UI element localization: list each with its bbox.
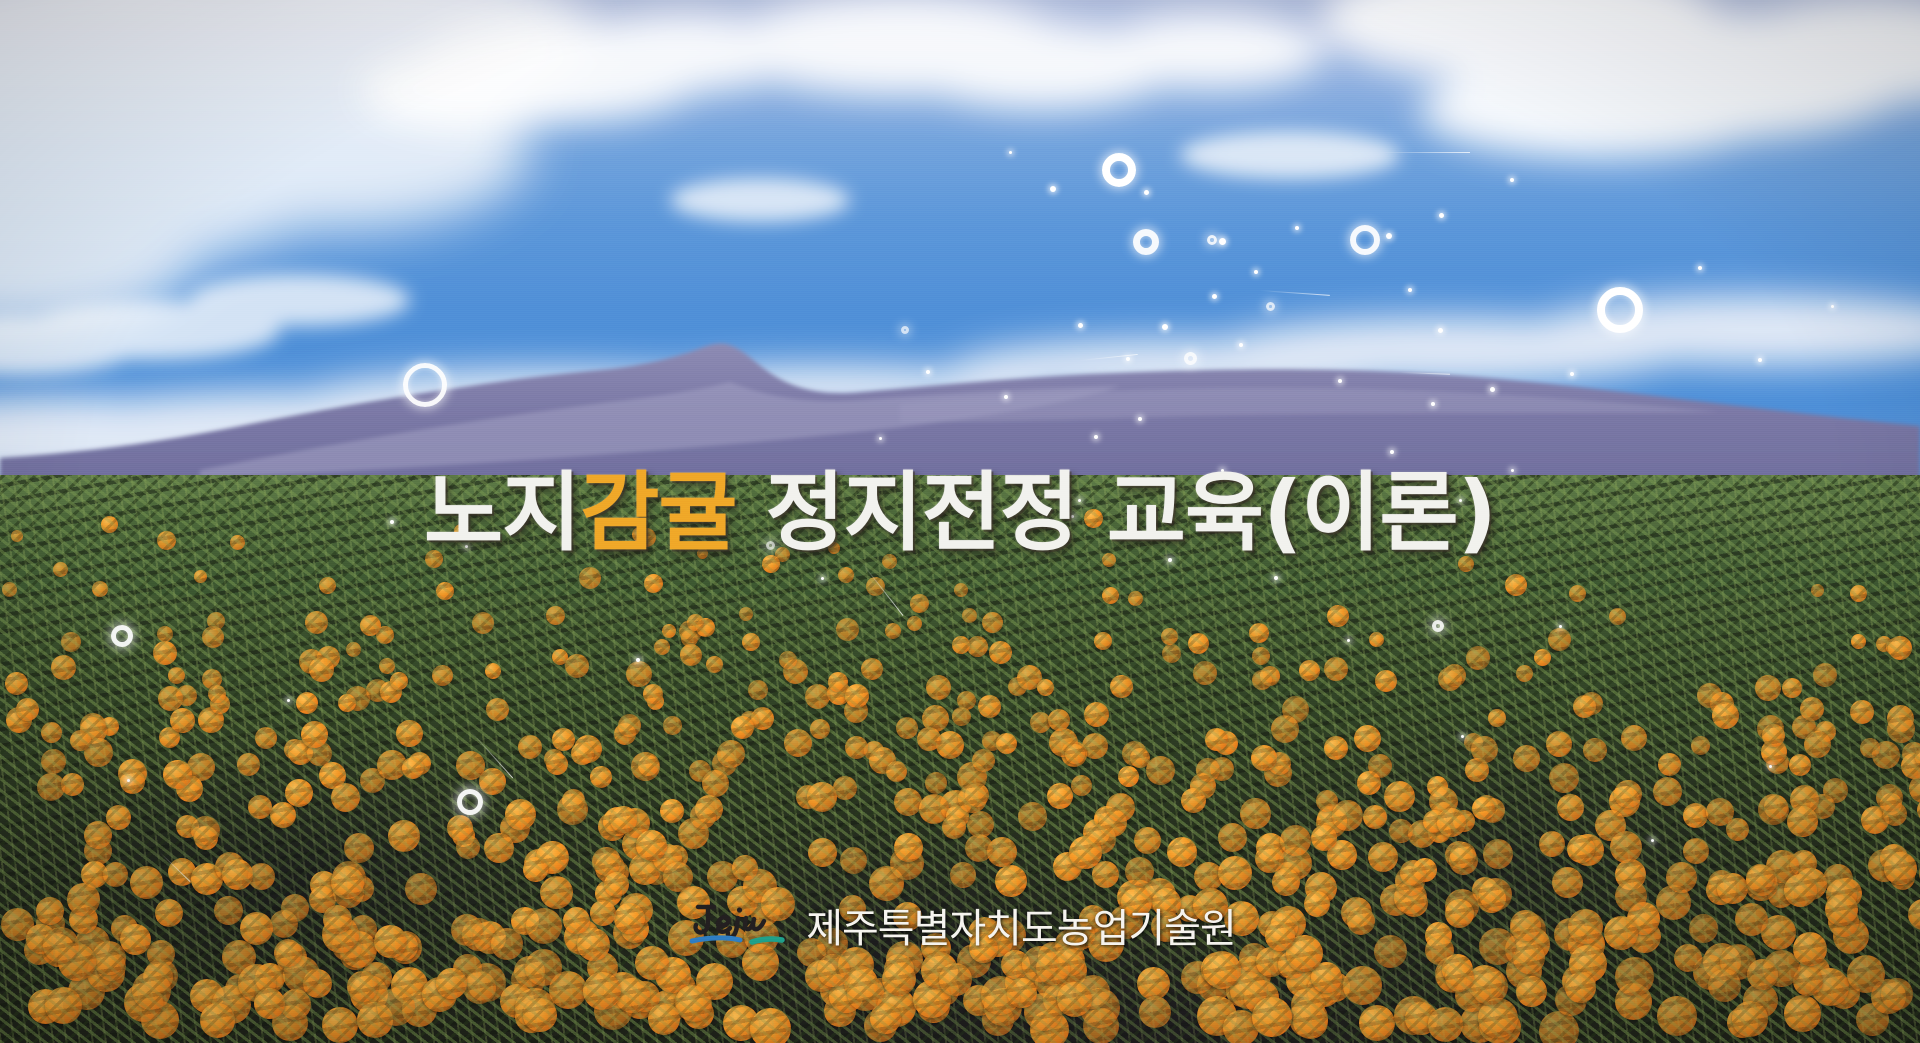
bokeh-dot xyxy=(1431,402,1435,406)
bokeh-ring xyxy=(403,363,447,407)
tangerine-grove xyxy=(0,475,1920,1043)
bokeh-dot xyxy=(390,520,394,524)
bokeh-dot xyxy=(1009,151,1012,154)
bokeh-dot xyxy=(1831,305,1834,308)
bokeh-ring xyxy=(1597,287,1643,333)
bokeh-dot xyxy=(1559,625,1562,628)
bokeh-ring xyxy=(457,789,483,815)
bokeh-dot xyxy=(1126,357,1130,361)
bokeh-dot xyxy=(1168,558,1172,562)
video-title-card: 노지감귤 정지전정 교육(이론) xyxy=(0,0,1920,1043)
bokeh-dot xyxy=(926,370,930,374)
bokeh-ring xyxy=(1184,352,1197,365)
bokeh-dot xyxy=(127,779,130,782)
bokeh-dot xyxy=(1390,450,1394,454)
bokeh-dot xyxy=(1769,765,1772,768)
bokeh-dot xyxy=(1078,323,1083,328)
light-streak xyxy=(1380,152,1470,153)
bokeh-dot xyxy=(1144,190,1149,195)
bokeh-dot xyxy=(1438,328,1443,333)
bokeh-ring xyxy=(1350,225,1380,255)
bokeh-dot xyxy=(1490,387,1495,392)
bokeh-dot xyxy=(1338,379,1342,383)
bokeh-dot xyxy=(1651,839,1654,842)
bokeh-dot xyxy=(1328,480,1332,484)
bokeh-dot xyxy=(1254,270,1258,274)
bokeh-dot xyxy=(465,545,468,548)
bokeh-dot xyxy=(1461,735,1464,738)
bokeh-dot xyxy=(1050,186,1056,192)
bokeh-dot xyxy=(1274,576,1278,580)
bokeh-dot xyxy=(1698,266,1702,270)
bokeh-dot xyxy=(1239,343,1243,347)
bokeh-dot xyxy=(1162,324,1168,330)
bokeh-dot xyxy=(287,699,290,702)
bokeh-dot xyxy=(1459,499,1462,502)
bokeh-dot xyxy=(1138,417,1142,421)
bokeh-dot xyxy=(1439,213,1444,218)
bokeh-ring xyxy=(111,625,133,647)
bokeh-ring xyxy=(1207,235,1217,245)
bokeh-ring xyxy=(1266,302,1275,311)
bokeh-dot xyxy=(1071,515,1074,518)
bokeh-dot xyxy=(1758,358,1762,362)
bokeh-dot xyxy=(636,658,640,662)
bokeh-dot xyxy=(1386,233,1392,239)
bokeh-ring xyxy=(901,326,909,334)
bokeh-dot xyxy=(1295,226,1299,230)
bokeh-dot xyxy=(1570,372,1574,376)
bokeh-dot xyxy=(1078,499,1081,502)
bokeh-dot xyxy=(1347,639,1350,642)
bokeh-dot xyxy=(1004,395,1008,399)
bokeh-dot xyxy=(1221,469,1224,472)
bokeh-ring xyxy=(766,541,775,550)
grove-leaf-texture-overlay xyxy=(0,475,1920,1043)
bokeh-dot xyxy=(1219,238,1226,245)
bokeh-dot xyxy=(1094,435,1098,439)
bokeh-dot xyxy=(1408,288,1412,292)
bokeh-ring xyxy=(1133,229,1159,255)
bokeh-ring xyxy=(1432,620,1444,632)
bokeh-dot xyxy=(1511,469,1514,472)
bokeh-dot xyxy=(1212,294,1217,299)
bokeh-dot xyxy=(821,577,824,580)
bokeh-dot xyxy=(1510,178,1514,182)
bokeh-ring xyxy=(1102,153,1136,187)
bokeh-dot xyxy=(879,437,882,440)
